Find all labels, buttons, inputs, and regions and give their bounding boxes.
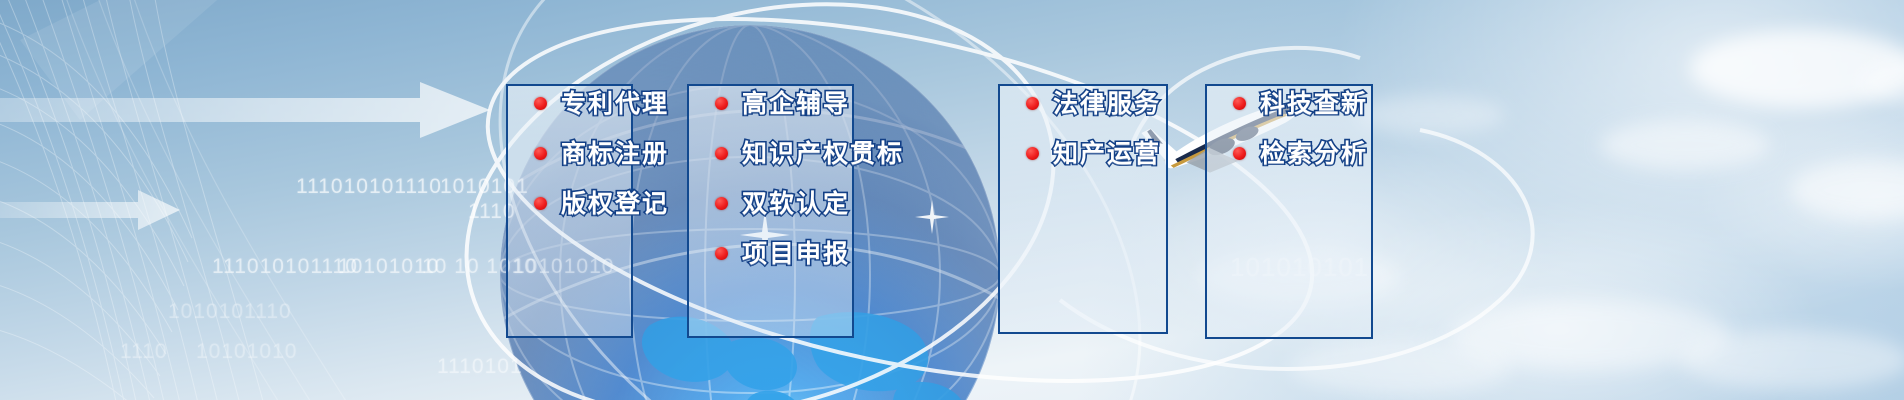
bullet-dot-icon — [534, 197, 547, 210]
service-item-label: 法律服务 — [1053, 91, 1161, 116]
bullet-dot-icon — [1233, 147, 1246, 160]
bullet-dot-icon — [1233, 97, 1246, 110]
binary-decoration-text: 10101010 — [338, 255, 439, 279]
service-item[interactable]: 高企辅导 — [715, 91, 850, 116]
service-box-3[interactable]: 法律服务知产运营 — [998, 84, 1168, 334]
service-box-2[interactable]: 高企辅导知识产权贯标双软认定项目申报 — [687, 84, 854, 338]
service-item[interactable]: 专利代理 — [534, 91, 669, 116]
service-item-label: 知产运营 — [1053, 141, 1161, 166]
cloud-shape — [1680, 330, 1904, 390]
service-item[interactable]: 检索分析 — [1233, 141, 1368, 166]
right-arrow-large — [0, 82, 490, 138]
service-item-label: 专利代理 — [561, 91, 669, 116]
service-item[interactable]: 商标注册 — [534, 141, 669, 166]
wireframe-mesh — [0, 0, 420, 400]
orbit-rings — [0, 0, 1904, 400]
service-item[interactable]: 双软认定 — [715, 191, 850, 216]
bullet-dot-icon — [1026, 97, 1039, 110]
service-item-label: 科技查新 — [1260, 91, 1368, 116]
service-item[interactable]: 版权登记 — [534, 191, 669, 216]
service-box-1[interactable]: 专利代理商标注册版权登记 — [506, 84, 633, 338]
service-box-4[interactable]: 科技查新检索分析 — [1205, 84, 1373, 339]
service-item[interactable]: 法律服务 — [1026, 91, 1161, 116]
binary-decoration-text: 111010101110 — [212, 255, 358, 279]
binary-decoration-text: 10101010 — [196, 340, 297, 364]
service-item-label: 高企辅导 — [742, 91, 850, 116]
cloud-shape — [1860, 60, 1904, 105]
bullet-dot-icon — [715, 197, 728, 210]
service-item[interactable]: 科技查新 — [1233, 91, 1368, 116]
hero-banner: 1110101011101010101111011101010111010101… — [0, 0, 1904, 400]
service-item-label: 商标注册 — [561, 141, 669, 166]
service-item-label: 双软认定 — [742, 191, 850, 216]
cloud-shape — [1600, 120, 1770, 170]
binary-decoration-text: 1110101 — [437, 355, 523, 379]
bullet-dot-icon — [534, 147, 547, 160]
service-item-label: 项目申报 — [742, 241, 850, 266]
cloud-shape — [1690, 30, 1904, 108]
bullet-dot-icon — [534, 97, 547, 110]
service-item-label: 知识产权贯标 — [742, 141, 904, 166]
cloud-shape — [1450, 300, 1730, 370]
bullet-dot-icon — [715, 147, 728, 160]
binary-decoration-text: 1110 — [120, 340, 168, 364]
binary-decoration-text: 1010101110 — [168, 300, 292, 324]
service-item-label: 检索分析 — [1260, 141, 1368, 166]
sky-background — [0, 0, 1904, 400]
cloud-shape — [1355, 95, 1505, 135]
service-item[interactable]: 知识产权贯标 — [715, 141, 904, 166]
service-item-label: 版权登记 — [561, 191, 669, 216]
bullet-dot-icon — [1026, 147, 1039, 160]
service-item[interactable]: 项目申报 — [715, 241, 850, 266]
cloud-shape — [1290, 340, 1510, 395]
cloud-shape — [1790, 160, 1904, 220]
bullet-dot-icon — [715, 97, 728, 110]
bullet-dot-icon — [715, 247, 728, 260]
right-arrow-small — [0, 190, 180, 230]
service-item[interactable]: 知产运营 — [1026, 141, 1161, 166]
binary-decoration-text: 111010101110 — [296, 175, 442, 199]
